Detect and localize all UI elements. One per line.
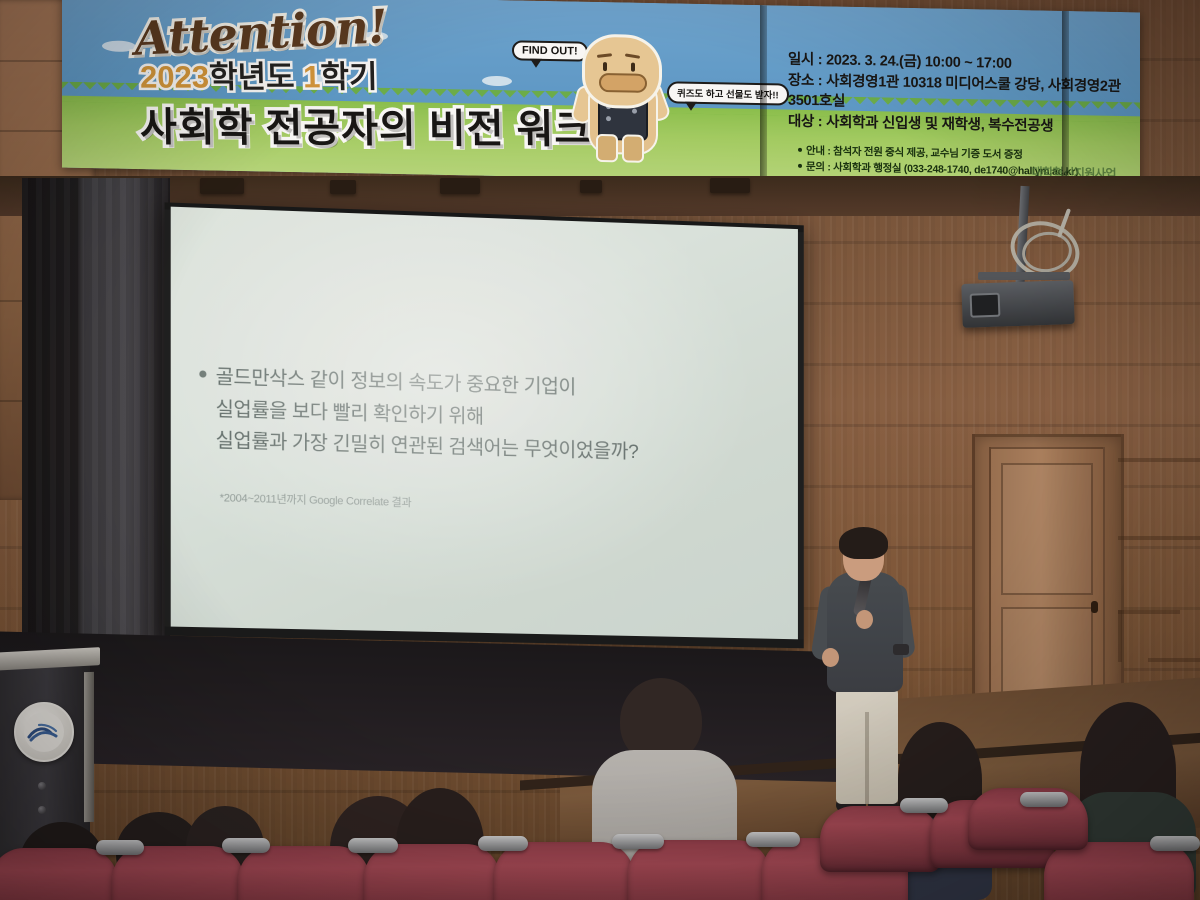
- auditorium-seat[interactable]: [238, 846, 370, 900]
- seat-armrest: [222, 838, 270, 853]
- banner-semester-num: 1: [303, 59, 321, 94]
- auditorium-seat[interactable]: [820, 806, 940, 872]
- banner-info-block: 일시 : 2023. 3. 24.(금) 10:00 ~ 17:00 장소 : …: [788, 50, 1140, 139]
- stage-front-wall: [0, 631, 860, 782]
- banner-subtitle-line: 2023학년도 1학기: [140, 51, 378, 96]
- lectern-side-rail: [84, 672, 94, 822]
- seat-armrest: [96, 840, 144, 855]
- banner-year-suffix: 학년도: [209, 59, 295, 94]
- presenter-hair: [839, 527, 888, 559]
- presenter-hand: [822, 648, 839, 667]
- event-banner: Attention! 2023학년도 1학기 사회학 전공자의 비전 워크샵 F…: [62, 0, 1140, 188]
- seat-armrest: [900, 798, 948, 813]
- wristwatch: [893, 644, 909, 655]
- projector-lens-icon: [970, 293, 1001, 318]
- speech-bubble-quiz: 퀴즈도 하고 선물도 받자!!: [667, 81, 789, 105]
- banner-info-line: 장소 : 사회경영1관 10318 미디어스쿨 강당, 사회경영2관 3501호…: [788, 70, 1140, 118]
- university-emblem-icon: [14, 702, 74, 762]
- projection-screen-frame: 골드만삭스 같이 정보의 속도가 중요한 기업이 실업률을 보다 빨리 확인하기…: [165, 202, 804, 648]
- seat-armrest: [348, 838, 398, 853]
- door-knob-icon[interactable]: [1091, 601, 1098, 613]
- seat-armrest: [612, 834, 664, 849]
- slide-bullet-icon: [199, 370, 206, 377]
- slide-text-block: 골드만삭스 같이 정보의 속도가 중요한 기업이 실업률을 보다 빨리 확인하기…: [216, 362, 779, 473]
- seat-armrest: [1150, 836, 1200, 851]
- seat-armrest: [746, 832, 800, 847]
- left-curtain-column: [22, 178, 170, 668]
- lectern-button[interactable]: [38, 806, 46, 814]
- projector-plate: [978, 272, 1070, 280]
- slide-footnote: *2004~2011년까지 Google Correlate 결과: [220, 489, 412, 510]
- banner-title: 사회학 전공자의 비전 워크샵: [140, 95, 631, 156]
- seat-armrest: [1020, 792, 1068, 807]
- auditorium-seat[interactable]: [628, 840, 770, 900]
- seat-armrest: [478, 836, 528, 851]
- duck-mascot-icon: [574, 29, 670, 159]
- auditorium-photo: Attention! 2023학년도 1학기 사회학 전공자의 비전 워크샵 F…: [0, 0, 1200, 900]
- banner-semester: 학기: [320, 59, 378, 94]
- projection-screen: 골드만삭스 같이 정보의 속도가 중요한 기업이 실업률을 보다 빨리 확인하기…: [171, 207, 798, 645]
- ceiling-projector: [961, 280, 1074, 328]
- presenter-mic-hand: [856, 610, 873, 629]
- lectern-button[interactable]: [38, 782, 46, 790]
- auditorium-seat[interactable]: [0, 848, 118, 900]
- presenter-pants: [836, 686, 898, 804]
- banner-year: 2023: [140, 60, 210, 95]
